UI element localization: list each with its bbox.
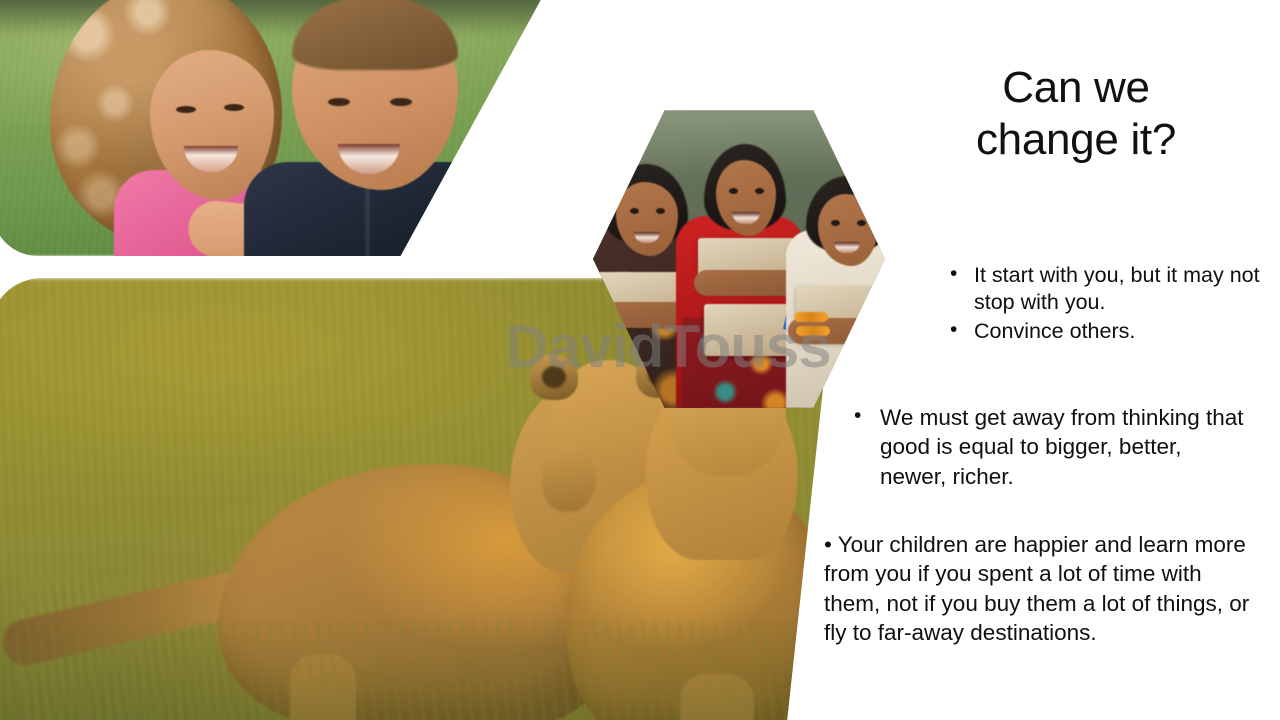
left-child-left-eye bbox=[630, 208, 639, 214]
photo-school-children-hexagon bbox=[590, 104, 888, 414]
right-child-left-eye bbox=[831, 220, 840, 226]
right-child-bangles-upper bbox=[794, 312, 828, 322]
list-item: It start with you, but it may not stop w… bbox=[948, 262, 1260, 316]
right-child-right-eye bbox=[857, 220, 866, 226]
left-child-right-eye bbox=[656, 208, 665, 214]
middle-child-right-eye bbox=[755, 188, 764, 194]
boy-left-eye bbox=[328, 98, 350, 106]
middle-child-arm bbox=[694, 270, 798, 296]
lioness-left-ear-inner bbox=[542, 366, 566, 388]
middle-child-book-lower bbox=[704, 304, 792, 356]
foreground-grass bbox=[0, 620, 835, 720]
presentation-slide: DavidTouss Can we change it? It start wi… bbox=[0, 0, 1280, 720]
page-title: Can we change it? bbox=[896, 62, 1256, 166]
page-title-line-1: Can we bbox=[896, 62, 1256, 114]
bullet-list-secondary: We must get away from thinking that good… bbox=[852, 403, 1252, 491]
bullet-list-primary: It start with you, but it may not stop w… bbox=[948, 262, 1260, 347]
list-item: Convince others. bbox=[948, 318, 1260, 345]
bullet-paragraph-tertiary: • Your children are happier and learn mo… bbox=[824, 530, 1256, 647]
middle-child-left-eye bbox=[729, 188, 738, 194]
hexagon-clip bbox=[590, 104, 888, 414]
boy-right-eye bbox=[390, 98, 412, 106]
girl-left-eye bbox=[176, 106, 196, 113]
right-child-bangles-lower bbox=[796, 326, 830, 336]
photo-children-hugging bbox=[0, 0, 544, 256]
list-item: We must get away from thinking that good… bbox=[852, 403, 1252, 491]
page-title-line-2: change it? bbox=[896, 114, 1256, 166]
girl-right-eye bbox=[224, 104, 244, 111]
boy-short-hair bbox=[292, 0, 458, 70]
lioness-left-muzzle bbox=[542, 446, 596, 512]
children-hugging-scene bbox=[0, 0, 544, 256]
